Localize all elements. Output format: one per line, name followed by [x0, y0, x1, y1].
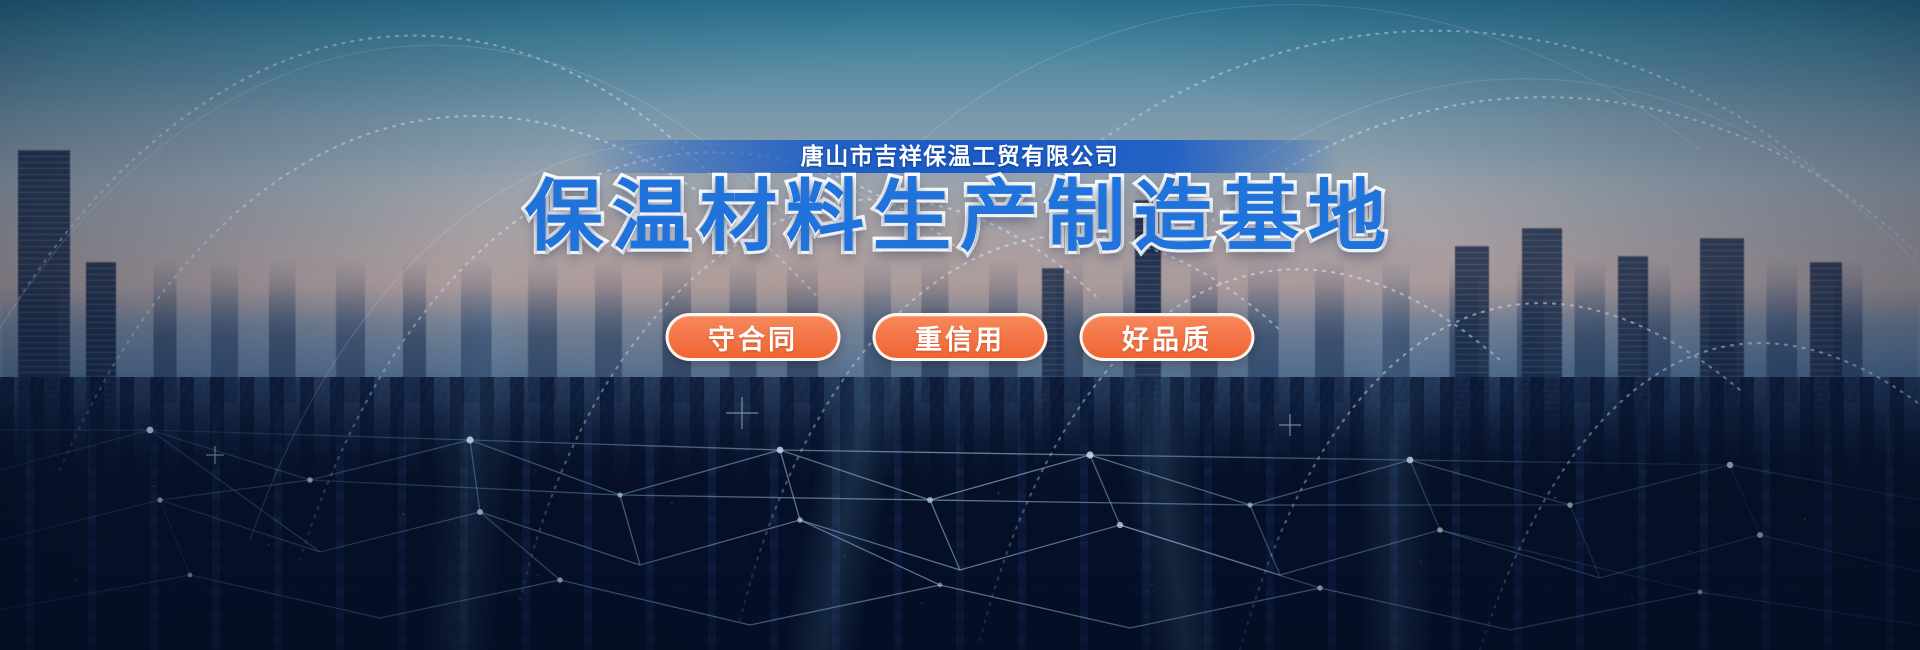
badge-label: 重信用	[915, 318, 1005, 357]
badge-zhong-xin-yong[interactable]: 重信用	[873, 313, 1048, 361]
page-title: 保温材料生产制造基地	[0, 176, 1920, 258]
feature-badge-row: 守合同 重信用 好品质	[666, 313, 1255, 361]
headline-wrapper: 保温材料生产制造基地 保温材料生产制造基地	[0, 176, 1920, 296]
company-name-text: 唐山市吉祥保温工贸有限公司	[801, 145, 1120, 168]
hero-banner: 唐山市吉祥保温工贸有限公司 保温材料生产制造基地 保温材料生产制造基地 守合同 …	[0, 0, 1920, 650]
banner-content: 唐山市吉祥保温工贸有限公司 保温材料生产制造基地 保温材料生产制造基地 守合同 …	[0, 0, 1920, 650]
badge-label: 好品质	[1122, 318, 1212, 357]
badge-shou-he-tong[interactable]: 守合同	[666, 313, 841, 361]
badge-hao-pin-zhi[interactable]: 好品质	[1080, 313, 1255, 361]
company-name-ribbon: 唐山市吉祥保温工贸有限公司	[580, 140, 1340, 173]
badge-label: 守合同	[708, 318, 798, 357]
